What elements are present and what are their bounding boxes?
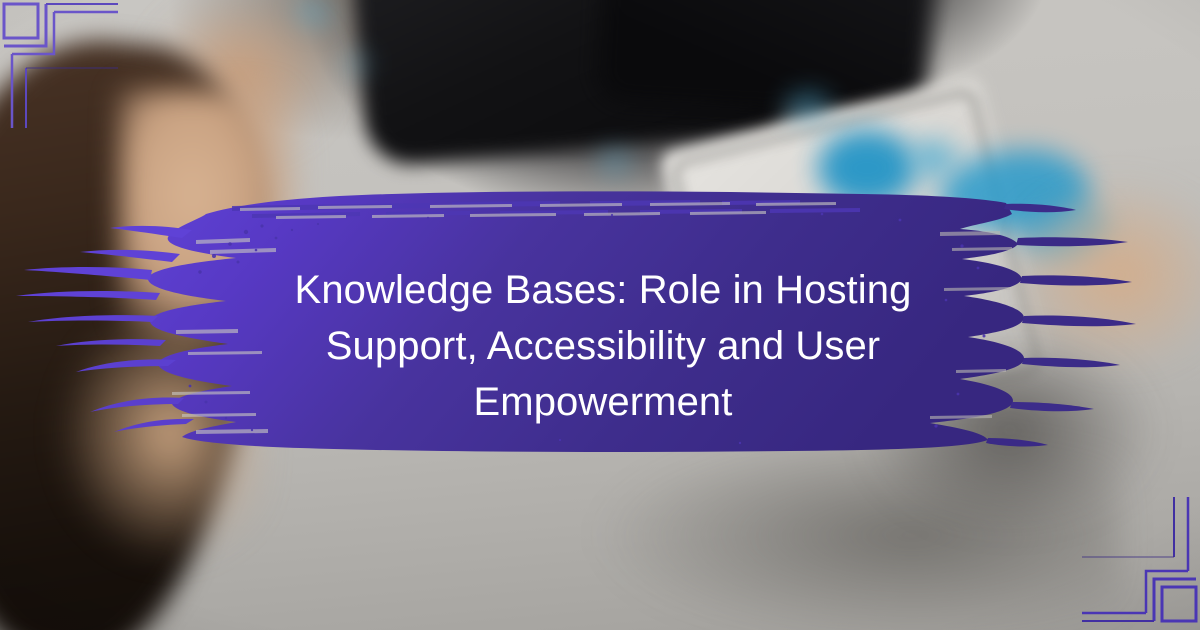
title-block: Knowledge Bases: Role in Hosting Support… bbox=[0, 262, 1200, 430]
page-title: Knowledge Bases: Role in Hosting Support… bbox=[223, 262, 983, 430]
share-card: Knowledge Bases: Role in Hosting Support… bbox=[0, 0, 1200, 630]
